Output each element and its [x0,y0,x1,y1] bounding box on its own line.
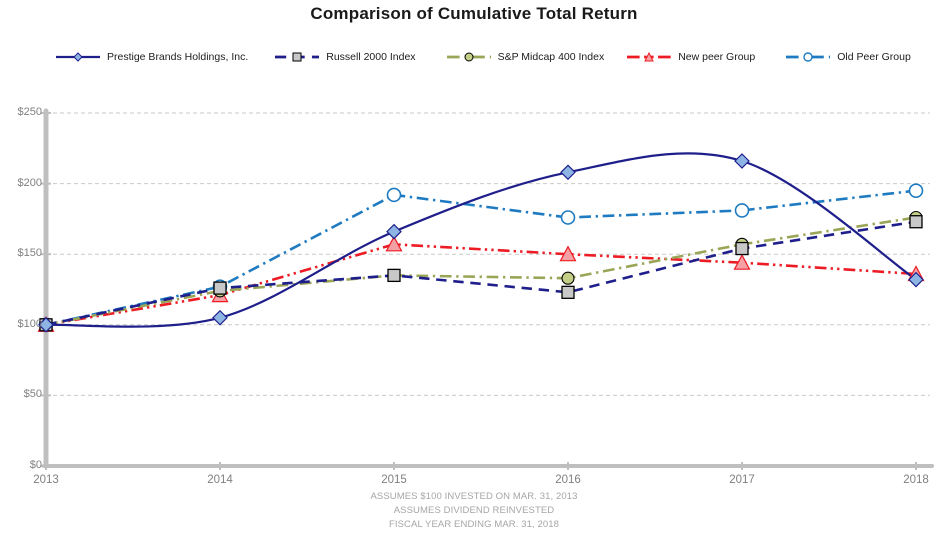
series-line-0 [46,153,916,326]
series-1-marker-square [736,243,748,255]
series-line-1 [46,222,916,325]
series-0-marker-diamond [387,225,401,239]
y-tick-label: $250 [0,106,42,118]
series-4-marker-circle-open [736,204,749,217]
y-tick-label: $0 [0,459,42,471]
series-line-4 [46,191,916,325]
y-tick-label: $200 [0,177,42,189]
x-tick-label: 2015 [364,474,424,486]
y-tick-label: $50 [0,388,42,400]
y-tick-label: $150 [0,247,42,259]
series-4-marker-circle-open [562,211,575,224]
series-1-marker-square [910,216,922,228]
x-tick-label: 2014 [190,474,250,486]
x-tick-label: 2017 [712,474,772,486]
series-line-2 [46,217,916,324]
series-1-marker-square [562,286,574,298]
series-0-marker-diamond [561,165,575,179]
x-tick-label: 2018 [886,474,946,486]
series-line-3 [46,244,916,324]
series-1-marker-square [214,282,226,294]
series-4-marker-circle-open [910,184,923,197]
series-4-marker-circle-open [388,188,401,201]
x-tick-label: 2013 [16,474,76,486]
chart-footnotes: ASSUMES $100 INVESTED ON MAR. 31, 2013 A… [0,490,948,532]
footnote-line-2: ASSUMES DIVIDEND REINVESTED [0,504,948,518]
footnote-line-3: FISCAL YEAR ENDING MAR. 31, 2018 [0,518,948,532]
series-0-marker-diamond [735,154,749,168]
series-2-marker-circle [562,272,574,284]
series-1-marker-square [388,269,400,281]
y-tick-label: $100 [0,318,42,330]
plot-area [0,0,948,544]
footnote-line-1: ASSUMES $100 INVESTED ON MAR. 31, 2013 [0,490,948,504]
cumulative-total-return-chart: Comparison of Cumulative Total Return Pr… [0,0,948,544]
x-tick-label: 2016 [538,474,598,486]
series-0-marker-diamond [213,311,227,325]
